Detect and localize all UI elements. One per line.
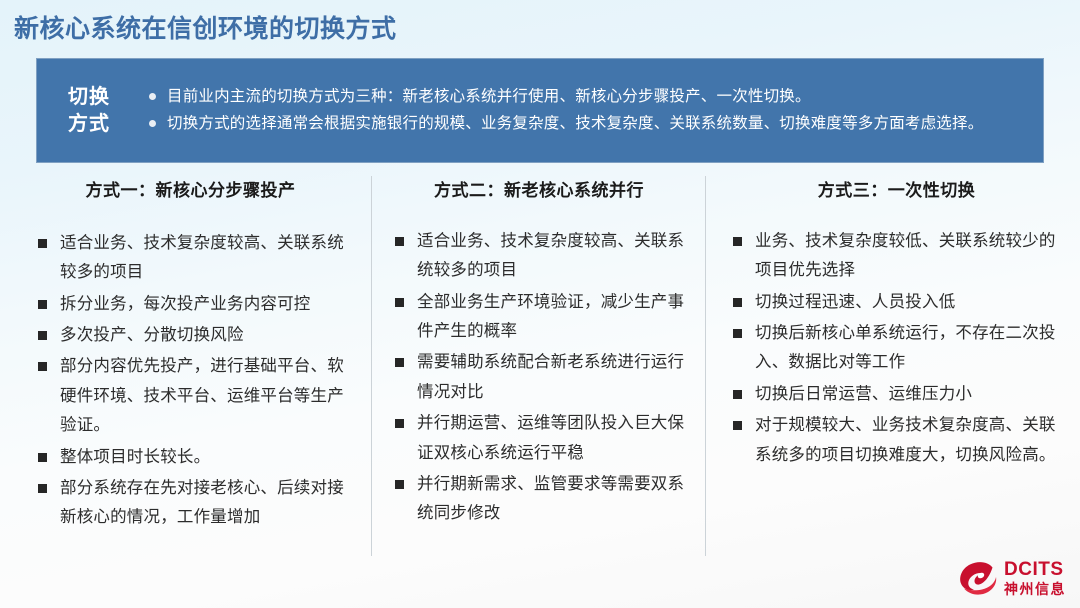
list-item: 全部业务生产环境验证，减少生产事件产生的概率 — [391, 288, 687, 347]
bullet-square-icon — [395, 419, 404, 428]
bullet-square-icon — [38, 239, 47, 248]
list-item-text: 整体项目时长较长。 — [60, 448, 210, 466]
bullet-square-icon — [733, 298, 742, 307]
bullet-square-icon — [733, 390, 742, 399]
list-item: 部分内容优先投产，进行基础平台、软硬件环境、技术平台、运维平台等生产验证。 — [34, 352, 347, 440]
list-item: 切换过程迅速、人员投入低 — [729, 288, 1064, 317]
column-method-two: 方式二：新老核心系统并行 适合业务、技术复杂度较高、关联系统较多的项目 全部业务… — [371, 176, 705, 566]
list-item: 并行期运营、运维等团队投入巨大保证双核心系统运行平稳 — [391, 409, 687, 468]
list-item-text: 切换过程迅速、人员投入低 — [755, 293, 955, 311]
bullet-square-icon — [38, 331, 47, 340]
list-item-text: 适合业务、技术复杂度较高、关联系统较多的项目 — [60, 234, 344, 281]
bullet-square-icon — [38, 484, 47, 493]
list-item: 适合业务、技术复杂度较高、关联系统较多的项目 — [34, 229, 347, 288]
list-item-text: 适合业务、技术复杂度较高、关联系统较多的项目 — [417, 232, 684, 279]
bullet-square-icon — [733, 237, 742, 246]
callout-label-line-1: 切换 — [43, 84, 135, 111]
logo-text: DCITS 神州信息 — [1004, 560, 1066, 596]
list-item-text: 切换后新核心单系统运行，不存在二次投入、数据比对等工作 — [755, 324, 1056, 371]
callout-label-line-2: 方式 — [43, 111, 135, 138]
column-heading: 方式三：一次性切换 — [729, 176, 1064, 201]
bullet-square-icon — [395, 480, 404, 489]
list-item-text: 对于规模较大、业务技术复杂度高、关联系统多的项目切换难度大，切换风险高。 — [755, 416, 1056, 463]
bullet-square-icon — [38, 453, 47, 462]
list-item: 切换后日常运营、运维压力小 — [729, 380, 1064, 409]
column-bullet-list: 适合业务、技术复杂度较高、关联系统较多的项目 全部业务生产环境验证，减少生产事件… — [391, 227, 687, 529]
list-item: 拆分业务，每次投产业务内容可控 — [34, 290, 347, 319]
list-item: 整体项目时长较长。 — [34, 443, 347, 472]
list-item: 切换后新核心单系统运行，不存在二次投入、数据比对等工作 — [729, 319, 1064, 378]
page-title: 新核心系统在信创环境的切换方式 — [14, 9, 397, 45]
list-item-text: 全部业务生产环境验证，减少生产事件产生的概率 — [417, 293, 684, 340]
list-item: 多次投产、分散切换风险 — [34, 321, 347, 350]
list-item: 对于规模较大、业务技术复杂度高、关联系统多的项目切换难度大，切换风险高。 — [729, 411, 1064, 470]
slide-canvas: 新核心系统在信创环境的切换方式 切换 方式 目前业内主流的切换方式为三种：新老核… — [0, 0, 1080, 608]
list-item-text: 需要辅助系统配合新老系统进行运行情况对比 — [417, 353, 684, 400]
list-item: 部分系统存在先对接老核心、后续对接新核心的情况，工作量增加 — [34, 474, 347, 533]
column-bullet-list: 业务、技术复杂度较低、关联系统较少的项目优先选择 切换过程迅速、人员投入低 切换… — [729, 227, 1064, 470]
company-logo: DCITS 神州信息 — [958, 560, 1066, 596]
bullet-square-icon — [395, 358, 404, 367]
callout-label: 切换 方式 — [37, 84, 135, 138]
bullet-dot-icon — [149, 120, 156, 127]
column-bullet-list: 适合业务、技术复杂度较高、关联系统较多的项目 拆分业务，每次投产业务内容可控 多… — [34, 229, 347, 533]
column-method-one: 方式一：新核心分步骤投产 适合业务、技术复杂度较高、关联系统较多的项目 拆分业务… — [0, 176, 371, 566]
column-method-three: 方式三：一次性切换 业务、技术复杂度较低、关联系统较少的项目优先选择 切换过程迅… — [705, 176, 1080, 566]
list-item: 并行期新需求、监管要求等需要双系统同步修改 — [391, 470, 687, 529]
callout-bullet-item: 切换方式的选择通常会根据实施银行的规模、业务复杂度、技术复杂度、关联系统数量、切… — [147, 111, 1023, 136]
column-heading: 方式一：新核心分步骤投产 — [34, 176, 347, 201]
list-item-text: 并行期运营、运维等团队投入巨大保证双核心系统运行平稳 — [417, 414, 684, 461]
callout-bullet-text: 切换方式的选择通常会根据实施银行的规模、业务复杂度、技术复杂度、关联系统数量、切… — [167, 115, 983, 132]
list-item-text: 部分系统存在先对接老核心、后续对接新核心的情况，工作量增加 — [60, 479, 344, 526]
callout-bullet-list: 目前业内主流的切换方式为三种：新老核心系统并行使用、新核心分步骤投产、一次性切换… — [135, 84, 1043, 136]
bullet-square-icon — [733, 421, 742, 430]
bullet-dot-icon — [149, 93, 156, 100]
comparison-columns: 方式一：新核心分步骤投产 适合业务、技术复杂度较高、关联系统较多的项目 拆分业务… — [0, 176, 1080, 566]
list-item-text: 切换后日常运营、运维压力小 — [755, 385, 972, 403]
column-heading: 方式二：新老核心系统并行 — [391, 176, 687, 201]
list-item-text: 多次投产、分散切换风险 — [60, 326, 244, 344]
list-item: 需要辅助系统配合新老系统进行运行情况对比 — [391, 348, 687, 407]
bullet-square-icon — [395, 298, 404, 307]
callout-box: 切换 方式 目前业内主流的切换方式为三种：新老核心系统并行使用、新核心分步骤投产… — [36, 58, 1044, 163]
bullet-square-icon — [395, 237, 404, 246]
bullet-square-icon — [38, 300, 47, 309]
list-item: 适合业务、技术复杂度较高、关联系统较多的项目 — [391, 227, 687, 286]
list-item: 业务、技术复杂度较低、关联系统较少的项目优先选择 — [729, 227, 1064, 286]
bullet-square-icon — [733, 329, 742, 338]
list-item-text: 部分内容优先投产，进行基础平台、软硬件环境、技术平台、运维平台等生产验证。 — [60, 357, 344, 434]
logo-name-en: DCITS — [1004, 560, 1066, 579]
callout-bullet-text: 目前业内主流的切换方式为三种：新老核心系统并行使用、新核心分步骤投产、一次性切换… — [167, 88, 811, 105]
dcits-swirl-icon — [958, 560, 998, 596]
list-item-text: 拆分业务，每次投产业务内容可控 — [60, 295, 311, 313]
callout-bullet-item: 目前业内主流的切换方式为三种：新老核心系统并行使用、新核心分步骤投产、一次性切换… — [147, 84, 1023, 109]
list-item-text: 业务、技术复杂度较低、关联系统较少的项目优先选择 — [755, 232, 1056, 279]
list-item-text: 并行期新需求、监管要求等需要双系统同步修改 — [417, 475, 684, 522]
bullet-square-icon — [38, 362, 47, 371]
logo-name-cn: 神州信息 — [1004, 582, 1066, 596]
